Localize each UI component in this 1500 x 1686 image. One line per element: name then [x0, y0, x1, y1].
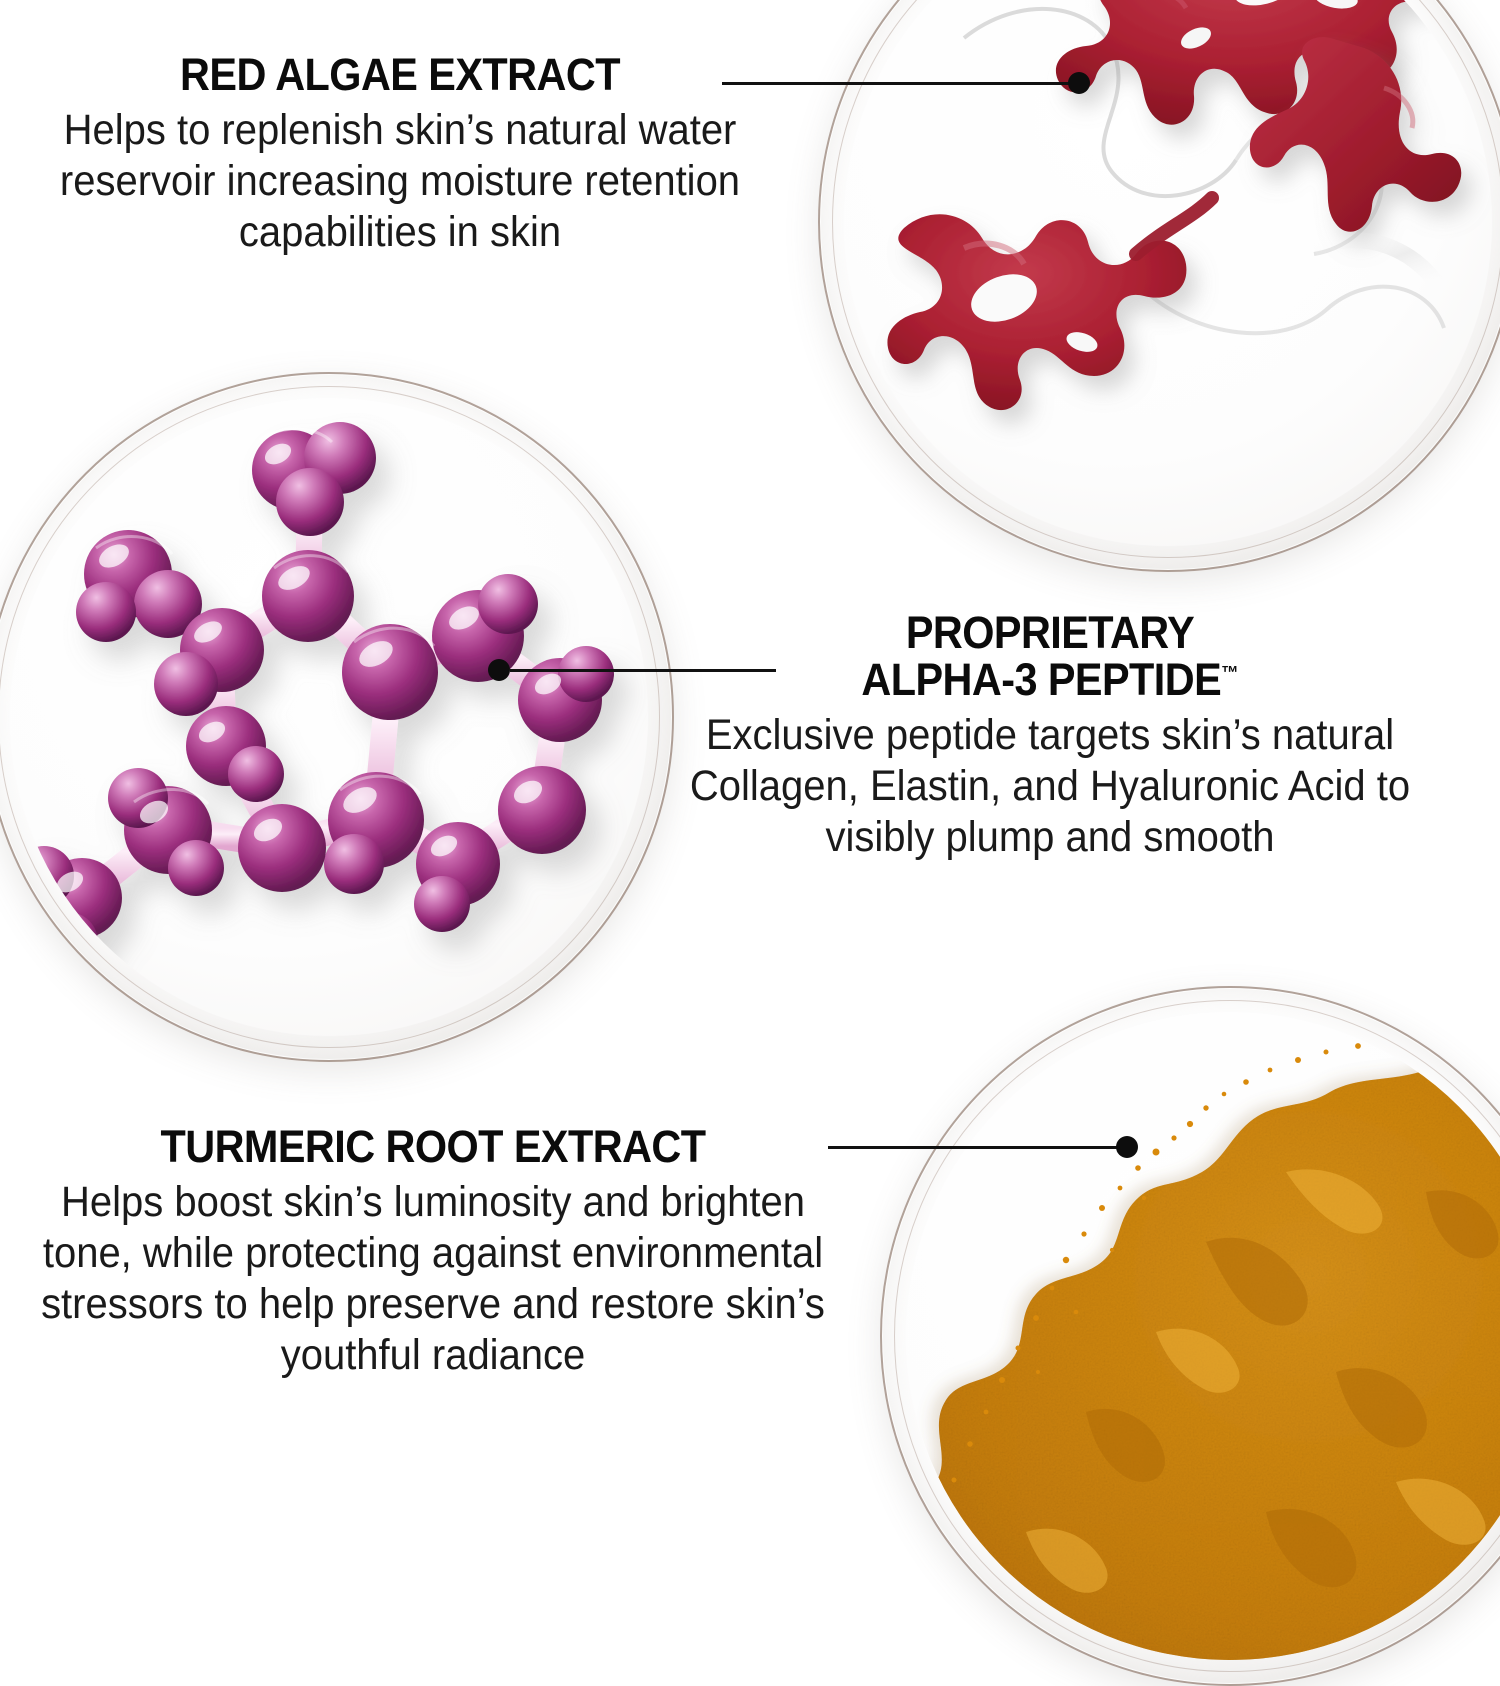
- peptide-molecule-model: [10, 398, 648, 1036]
- turmeric-powder-specimen: [906, 1012, 1500, 1660]
- callout-alpha-3-peptide: PROPRIETARY ALPHA-3 PEPTIDE™ Exclusive p…: [640, 610, 1460, 863]
- trademark-symbol: ™: [1221, 663, 1238, 684]
- callout-title-turmeric: TURMERIC ROOT EXTRACT: [42, 1124, 824, 1171]
- petri-dish-red-algae: [818, 0, 1500, 572]
- peptide-title-text: ALPHA-3 PEPTIDE: [861, 654, 1221, 705]
- leader-dot-turmeric: [1116, 1136, 1138, 1158]
- petri-dish-turmeric: [880, 986, 1500, 1686]
- leader-line-turmeric: [828, 1146, 1120, 1149]
- callout-title-peptide-line2: ALPHA-3 PEPTIDE™: [673, 657, 1427, 704]
- petri-dish-peptide-molecule: [0, 372, 674, 1062]
- leader-dot-red-algae: [1068, 72, 1090, 94]
- callout-title-peptide-line1: PROPRIETARY: [673, 610, 1427, 657]
- callout-body-turmeric: Helps boost skin’s luminosity and bright…: [38, 1177, 829, 1382]
- callout-title-red-algae: RED ALGAE EXTRACT: [32, 52, 768, 99]
- leader-dot-peptide: [488, 659, 510, 681]
- infographic-canvas: RED ALGAE EXTRACT Helps to replenish ski…: [0, 0, 1500, 1500]
- callout-turmeric-root: TURMERIC ROOT EXTRACT Helps boost skin’s…: [8, 1124, 858, 1381]
- dish-inner-surface: [10, 398, 648, 1036]
- dish-inner-surface: [906, 1012, 1500, 1660]
- callout-body-red-algae: Helps to replenish skin’s natural water …: [28, 105, 772, 258]
- callout-body-peptide: Exclusive peptide targets skin’s natural…: [669, 710, 1432, 863]
- callout-red-algae: RED ALGAE EXTRACT Helps to replenish ski…: [0, 52, 800, 258]
